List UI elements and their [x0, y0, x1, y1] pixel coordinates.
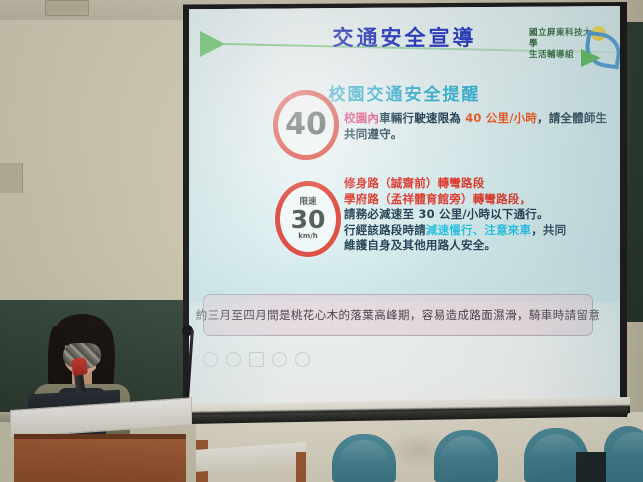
paragraph-30-line4c: ，共同 [531, 223, 566, 237]
paragraph-40-seg3: 40 公里/小時 [465, 111, 537, 125]
wall-outlet [45, 0, 89, 16]
lecture-hall-photo: 交通安全宣導 國立屏東科技大學 生活輔導組 校園交通安全提醒 40 [0, 0, 643, 482]
paragraph-40-seg1: 校園內 [344, 111, 379, 125]
speed-limit-30-sign: 限速 30 km/h [275, 181, 341, 257]
paragraph-40-seg2: 車輛行駛速限為 [379, 111, 465, 125]
slide-grid-icon[interactable] [249, 352, 264, 367]
seasonal-notice-box: 約三月至四月間是桃花心木的落葉高峰期，容易造成路面濕滑，騎車時請留意 [203, 294, 593, 336]
paragraph-30-line1: 修身路（誠齋前）轉彎路段 [344, 176, 616, 192]
paragraph-30-line5: 維護自身及其他用路人安全。 [344, 238, 616, 254]
wall-panel [0, 163, 23, 193]
leaf-arrow-icon [581, 49, 601, 67]
logo-mark-icon [577, 25, 617, 65]
podium-edge [14, 434, 186, 439]
paragraph-30-line2: 學府路（孟祥體育館旁）轉彎路段， [344, 192, 616, 208]
speed-limit-40-sign: 40 [273, 90, 339, 160]
paragraph-30-line4b: 減速慢行、注意來車 [426, 223, 531, 237]
university-logo: 國立屏東科技大學 生活輔導組 [529, 23, 617, 68]
speed-limit-30-paragraph: 修身路（誠齋前）轉彎路段 學府路（孟祥體育館旁）轉彎路段， 請務必減速至 30 … [344, 176, 616, 254]
presentation-controls[interactable] [203, 351, 313, 367]
chair [434, 430, 498, 482]
previous-slide-icon[interactable] [203, 352, 218, 367]
handheld-microphone-head-icon [71, 357, 88, 376]
projection-screen: 交通安全宣導 國立屏東科技大學 生活輔導組 校園交通安全提醒 40 [189, 6, 620, 410]
chair [604, 426, 643, 482]
paragraph-30-line4: 行經該路段時請減速慢行、注意來車，共同 [344, 223, 616, 239]
chair [332, 434, 396, 482]
speed-limit-40-number: 40 [285, 110, 327, 140]
pen-icon[interactable] [226, 352, 241, 367]
podium-body [14, 434, 186, 482]
desk-side-panel [296, 452, 306, 482]
presentation-slide: 交通安全宣導 國立屏東科技大學 生活輔導組 校園交通安全提醒 40 [189, 6, 620, 410]
speed-limit-30-unit: km/h [298, 233, 318, 240]
slide-sub-heading: 校園交通安全提醒 [189, 80, 620, 105]
seasonal-notice-text: 約三月至四月間是桃花心木的落葉高峰期，容易造成路面濕滑，騎車時請留意 [196, 307, 601, 323]
paragraph-30-line4a: 行經該路段時請 [344, 223, 426, 237]
next-slide-icon[interactable] [295, 352, 310, 367]
speed-limit-40-paragraph: 校園內車輛行駛速限為 40 公里/小時，請全體師生共同遵守。 [344, 110, 616, 142]
speed-limit-30-number: 30 [291, 207, 326, 232]
paragraph-30-line3: 請務必減速至 30 公里/小時以下通行。 [344, 207, 616, 223]
podium [10, 410, 190, 482]
floor-shadow [576, 452, 606, 482]
more-options-icon[interactable] [272, 352, 287, 367]
